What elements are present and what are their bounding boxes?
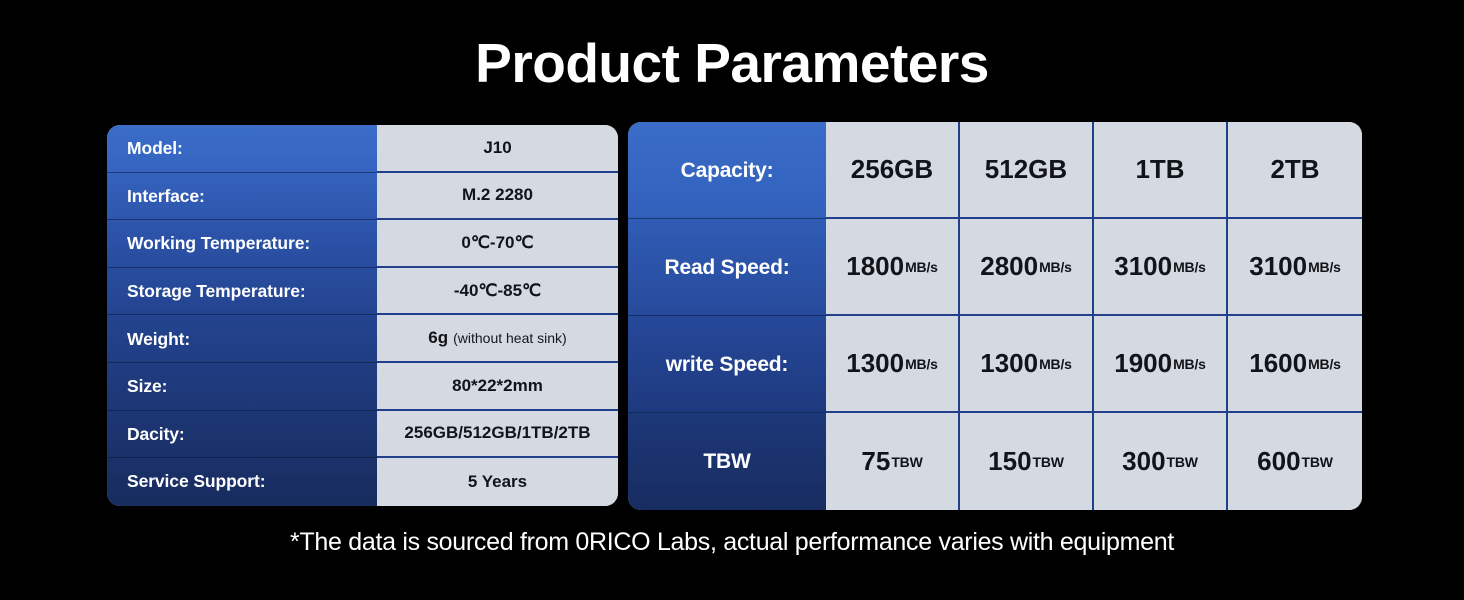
spec-label-weight: Weight:	[107, 315, 377, 363]
spec-label-dacity: Dacity:	[107, 411, 377, 459]
read-speed-cell-4: 3100MB/s	[1228, 219, 1362, 316]
performance-label-read-speed: Read Speed:	[628, 219, 826, 316]
tbw-unit: TBW	[1167, 454, 1198, 470]
capacity-value: 256GB	[851, 154, 933, 185]
tbw-value: 75	[861, 446, 890, 477]
write-speed-value: 1300	[846, 348, 904, 379]
spec-value-storage-temperature: -40℃-85℃	[377, 268, 618, 316]
write-speed-unit: MB/s	[1173, 356, 1206, 372]
tbw-value: 300	[1122, 446, 1165, 477]
table-row-tbw: TBW 75TBW 150TBW 300TBW 600TBW	[628, 413, 1362, 510]
spec-label-service-support: Service Support:	[107, 458, 377, 506]
table-row-write-speed: write Speed: 1300MB/s 1300MB/s 1900MB/s …	[628, 316, 1362, 413]
performance-label-write-speed: write Speed:	[628, 316, 826, 413]
write-speed-unit: MB/s	[1308, 356, 1341, 372]
write-speed-cell-1: 1300MB/s	[826, 316, 960, 413]
tbw-cell-4: 600TBW	[1228, 413, 1362, 510]
write-speed-value: 1600	[1249, 348, 1307, 379]
spec-value-text: M.2 2280	[462, 185, 533, 205]
spec-value-note: (without heat sink)	[453, 330, 567, 346]
table-row: Dacity: 256GB/512GB/1TB/2TB	[107, 411, 618, 459]
spec-value-service-support: 5 Years	[377, 458, 618, 506]
page-title: Product Parameters	[0, 36, 1464, 91]
performance-label-capacity: Capacity:	[628, 122, 826, 219]
write-speed-unit: MB/s	[905, 356, 938, 372]
tbw-value: 150	[988, 446, 1031, 477]
spec-value-model: J10	[377, 125, 618, 173]
table-row: Service Support: 5 Years	[107, 458, 618, 506]
write-speed-cell-2: 1300MB/s	[960, 316, 1094, 413]
table-row: Size: 80*22*2mm	[107, 363, 618, 411]
write-speed-value: 1300	[980, 348, 1038, 379]
table-row: Model: J10	[107, 125, 618, 173]
spec-value-text: 6g	[428, 328, 448, 348]
read-speed-value: 3100	[1114, 251, 1172, 282]
spec-value-text: 0℃-70℃	[461, 233, 533, 253]
spec-value-size: 80*22*2mm	[377, 363, 618, 411]
read-speed-value: 2800	[980, 251, 1038, 282]
spec-label-model: Model:	[107, 125, 377, 173]
tbw-unit: TBW	[891, 454, 922, 470]
read-speed-cell-1: 1800MB/s	[826, 219, 960, 316]
write-speed-unit: MB/s	[1039, 356, 1072, 372]
spec-value-weight: 6g (without heat sink)	[377, 315, 618, 363]
capacity-cell-2: 512GB	[960, 122, 1094, 219]
tbw-cell-3: 300TBW	[1094, 413, 1228, 510]
table-row: Storage Temperature: -40℃-85℃	[107, 268, 618, 316]
read-speed-value: 1800	[846, 251, 904, 282]
tbw-value: 600	[1257, 446, 1300, 477]
table-row: Working Temperature: 0℃-70℃	[107, 220, 618, 268]
tbw-unit: TBW	[1302, 454, 1333, 470]
read-speed-unit: MB/s	[1308, 259, 1341, 275]
table-row: Weight: 6g (without heat sink)	[107, 315, 618, 363]
spec-value-text: 80*22*2mm	[452, 376, 543, 396]
spec-value-text: J10	[483, 138, 511, 158]
tbw-cell-1: 75TBW	[826, 413, 960, 510]
spec-value-working-temperature: 0℃-70℃	[377, 220, 618, 268]
spec-value-text: 256GB/512GB/1TB/2TB	[404, 423, 590, 443]
read-speed-unit: MB/s	[1173, 259, 1206, 275]
spec-value-interface: M.2 2280	[377, 173, 618, 221]
capacity-value: 2TB	[1270, 154, 1319, 185]
spec-value-text: 5 Years	[468, 472, 527, 492]
read-speed-cell-3: 3100MB/s	[1094, 219, 1228, 316]
table-row-read-speed: Read Speed: 1800MB/s 2800MB/s 3100MB/s 3…	[628, 219, 1362, 316]
performance-label-tbw: TBW	[628, 413, 826, 510]
capacity-value: 512GB	[985, 154, 1067, 185]
spec-label-storage-temperature: Storage Temperature:	[107, 268, 377, 316]
spec-label-size: Size:	[107, 363, 377, 411]
tbw-unit: TBW	[1033, 454, 1064, 470]
spec-table: Model: J10 Interface: M.2 2280 Working T…	[107, 125, 618, 506]
table-row-capacity: Capacity: 256GB 512GB 1TB 2TB	[628, 122, 1362, 219]
write-speed-cell-4: 1600MB/s	[1228, 316, 1362, 413]
spec-value-dacity: 256GB/512GB/1TB/2TB	[377, 411, 618, 459]
capacity-value: 1TB	[1135, 154, 1184, 185]
write-speed-value: 1900	[1114, 348, 1172, 379]
capacity-cell-1: 256GB	[826, 122, 960, 219]
table-row: Interface: M.2 2280	[107, 173, 618, 221]
capacity-cell-3: 1TB	[1094, 122, 1228, 219]
capacity-cell-4: 2TB	[1228, 122, 1362, 219]
spec-value-text: -40℃-85℃	[454, 281, 541, 301]
spec-label-interface: Interface:	[107, 173, 377, 221]
read-speed-unit: MB/s	[1039, 259, 1072, 275]
data-source-footnote: *The data is sourced from 0RICO Labs, ac…	[0, 528, 1464, 557]
product-parameters-page: Product Parameters Model: J10 Interface:…	[0, 0, 1464, 600]
tbw-cell-2: 150TBW	[960, 413, 1094, 510]
performance-table: Capacity: 256GB 512GB 1TB 2TB Read Speed…	[628, 122, 1362, 510]
read-speed-unit: MB/s	[905, 259, 938, 275]
write-speed-cell-3: 1900MB/s	[1094, 316, 1228, 413]
spec-label-working-temperature: Working Temperature:	[107, 220, 377, 268]
read-speed-value: 3100	[1249, 251, 1307, 282]
read-speed-cell-2: 2800MB/s	[960, 219, 1094, 316]
